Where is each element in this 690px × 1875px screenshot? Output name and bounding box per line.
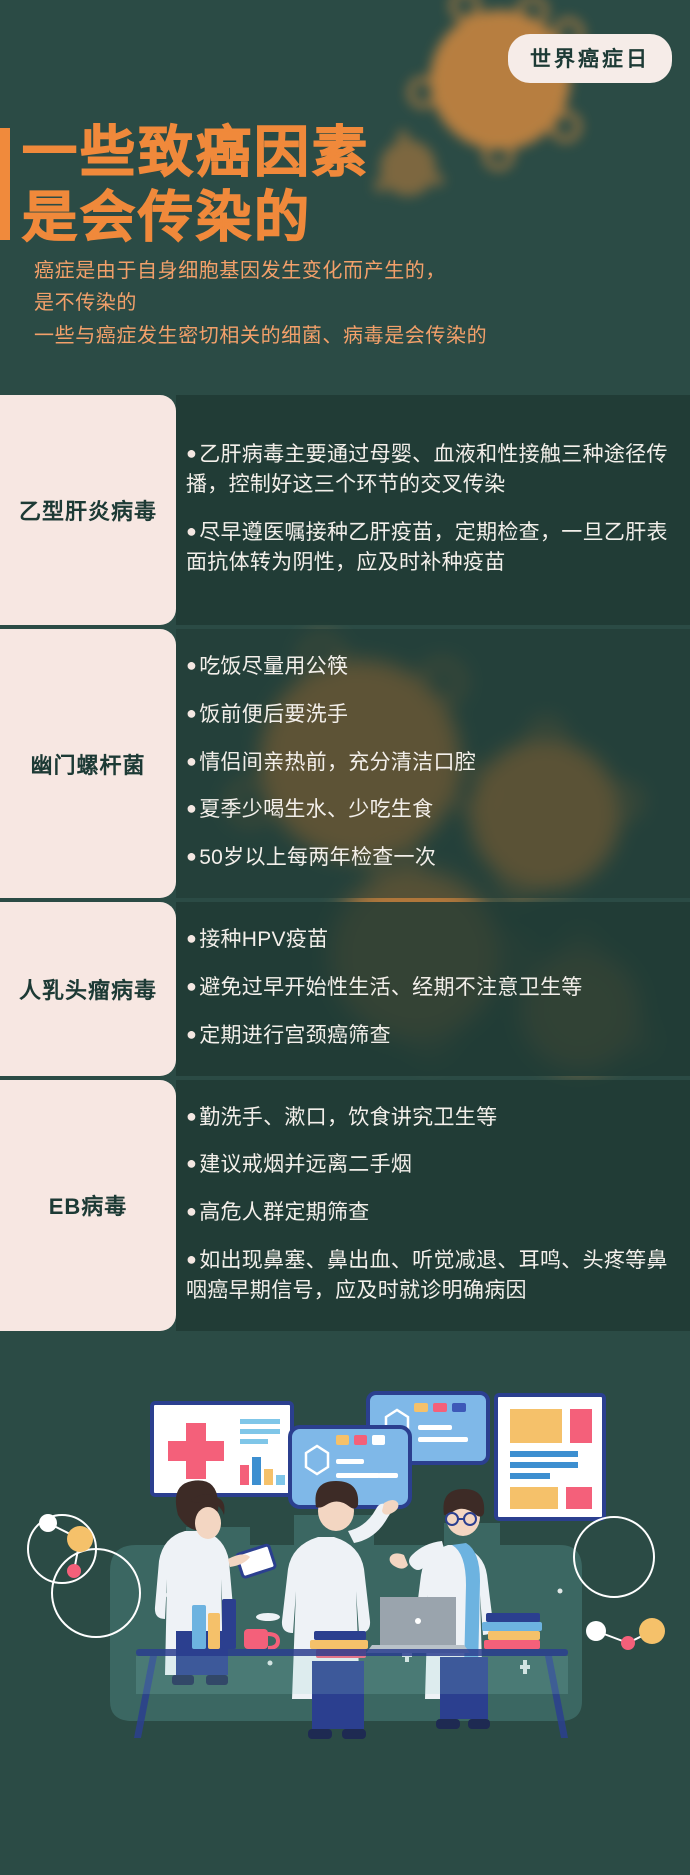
list-item: 建议戒烟并远离二手烟 (186, 1150, 676, 1180)
subtitle-line-1: 癌症是由于自身细胞基因发生变化而产生的， (34, 255, 487, 287)
molecule-icon-right (574, 1517, 665, 1650)
row-content-cell: 勤洗手、漱口，饮食讲究卫生等 建议戒烟并远离二手烟 高危人群定期筛查 如出现鼻塞… (176, 1080, 690, 1331)
medical-team-illustration (0, 1331, 690, 1761)
list-item: 50岁以上每两年检查一次 (186, 843, 676, 873)
list-item: 勤洗手、漱口，饮食讲究卫生等 (186, 1103, 676, 1133)
list-item: 尽早遵医嘱接种乙肝疫苗，定期检查，一旦乙肝表面抗体转为阴性，应及时补种疫苗 (186, 518, 676, 578)
subtitle-block: 癌症是由于自身细胞基因发生变化而产生的， 是不传染的 一些与癌症发生密切相关的细… (34, 255, 487, 352)
list-item: 吃饭尽量用公筷 (186, 652, 676, 682)
list-item: 夏季少喝生水、少吃生食 (186, 795, 676, 825)
laptop (366, 1597, 470, 1653)
title-line-2: 是会传染的 (22, 185, 370, 250)
list-item: 定期进行宫颈癌筛查 (186, 1021, 676, 1051)
risk-factor-table: 乙型肝炎病毒 乙肝病毒主要通过母婴、血液和性接触三种途径传播，控制好这三个环节的… (0, 395, 690, 1331)
list-item: 饭前便后要洗手 (186, 700, 676, 730)
list-item: 避免过早开始性生活、经期不注意卫生等 (186, 973, 676, 1003)
subtitle-line-2: 是不传染的 (34, 287, 487, 319)
table-row: 乙型肝炎病毒 乙肝病毒主要通过母婴、血液和性接触三种途径传播，控制好这三个环节的… (0, 395, 690, 625)
list-item: 接种HPV疫苗 (186, 925, 676, 955)
virus-name: 幽门螺杆菌 (30, 748, 145, 780)
row-content-cell: 吃饭尽量用公筷 饭前便后要洗手 情侣间亲热前，充分清洁口腔 夏季少喝生水、少吃生… (176, 629, 690, 898)
subtitle-line-3: 一些与癌症发生密切相关的细菌、病毒是会传染的 (34, 320, 487, 352)
table-row: EB病毒 勤洗手、漱口，饮食讲究卫生等 建议戒烟并远离二手烟 高危人群定期筛查 … (0, 1080, 690, 1331)
page-title: 一些致癌因素 是会传染的 (0, 128, 370, 250)
table-row: 人乳头瘤病毒 接种HPV疫苗 避免过早开始性生活、经期不注意卫生等 定期进行宫颈… (0, 902, 690, 1075)
world-cancer-day-badge: 世界癌症日 (508, 34, 672, 83)
virus-name: 人乳头瘤病毒 (19, 973, 157, 1005)
list-item: 乙肝病毒主要通过母婴、血液和性接触三种途径传播，控制好这三个环节的交叉传染 (186, 440, 676, 500)
row-label-cell: 人乳头瘤病毒 (0, 902, 176, 1075)
book-stack-right (482, 1613, 542, 1649)
list-item: 如出现鼻塞、鼻出血、听觉减退、耳鸣、头疼等鼻咽癌早期信号，应及时就诊明确病因 (186, 1246, 676, 1306)
virus-name: EB病毒 (49, 1189, 128, 1221)
row-label-cell: 幽门螺杆菌 (0, 629, 176, 898)
list-item: 高危人群定期筛查 (186, 1198, 676, 1228)
virus-name: 乙型肝炎病毒 (19, 494, 157, 526)
row-content-cell: 乙肝病毒主要通过母婴、血液和性接触三种途径传播，控制好这三个环节的交叉传染 尽早… (176, 395, 690, 625)
table-row: 幽门螺杆菌 吃饭尽量用公筷 饭前便后要洗手 情侣间亲热前，充分清洁口腔 夏季少喝… (0, 629, 690, 898)
list-item: 情侣间亲热前，充分清洁口腔 (186, 748, 676, 778)
red-cross-board (152, 1403, 292, 1495)
row-content-cell: 接种HPV疫苗 避免过早开始性生活、经期不注意卫生等 定期进行宫颈癌筛查 (176, 902, 690, 1075)
virus-decoration-small (380, 140, 436, 196)
row-label-cell: EB病毒 (0, 1080, 176, 1331)
row-label-cell: 乙型肝炎病毒 (0, 395, 176, 625)
header-section: 世界癌症日 一些致癌因素 是会传染的 癌症是由于自身细胞基因发生变化而产生的， … (0, 0, 690, 395)
document-board (496, 1395, 604, 1519)
title-accent-bar (0, 128, 10, 240)
title-line-1: 一些致癌因素 (22, 120, 370, 185)
